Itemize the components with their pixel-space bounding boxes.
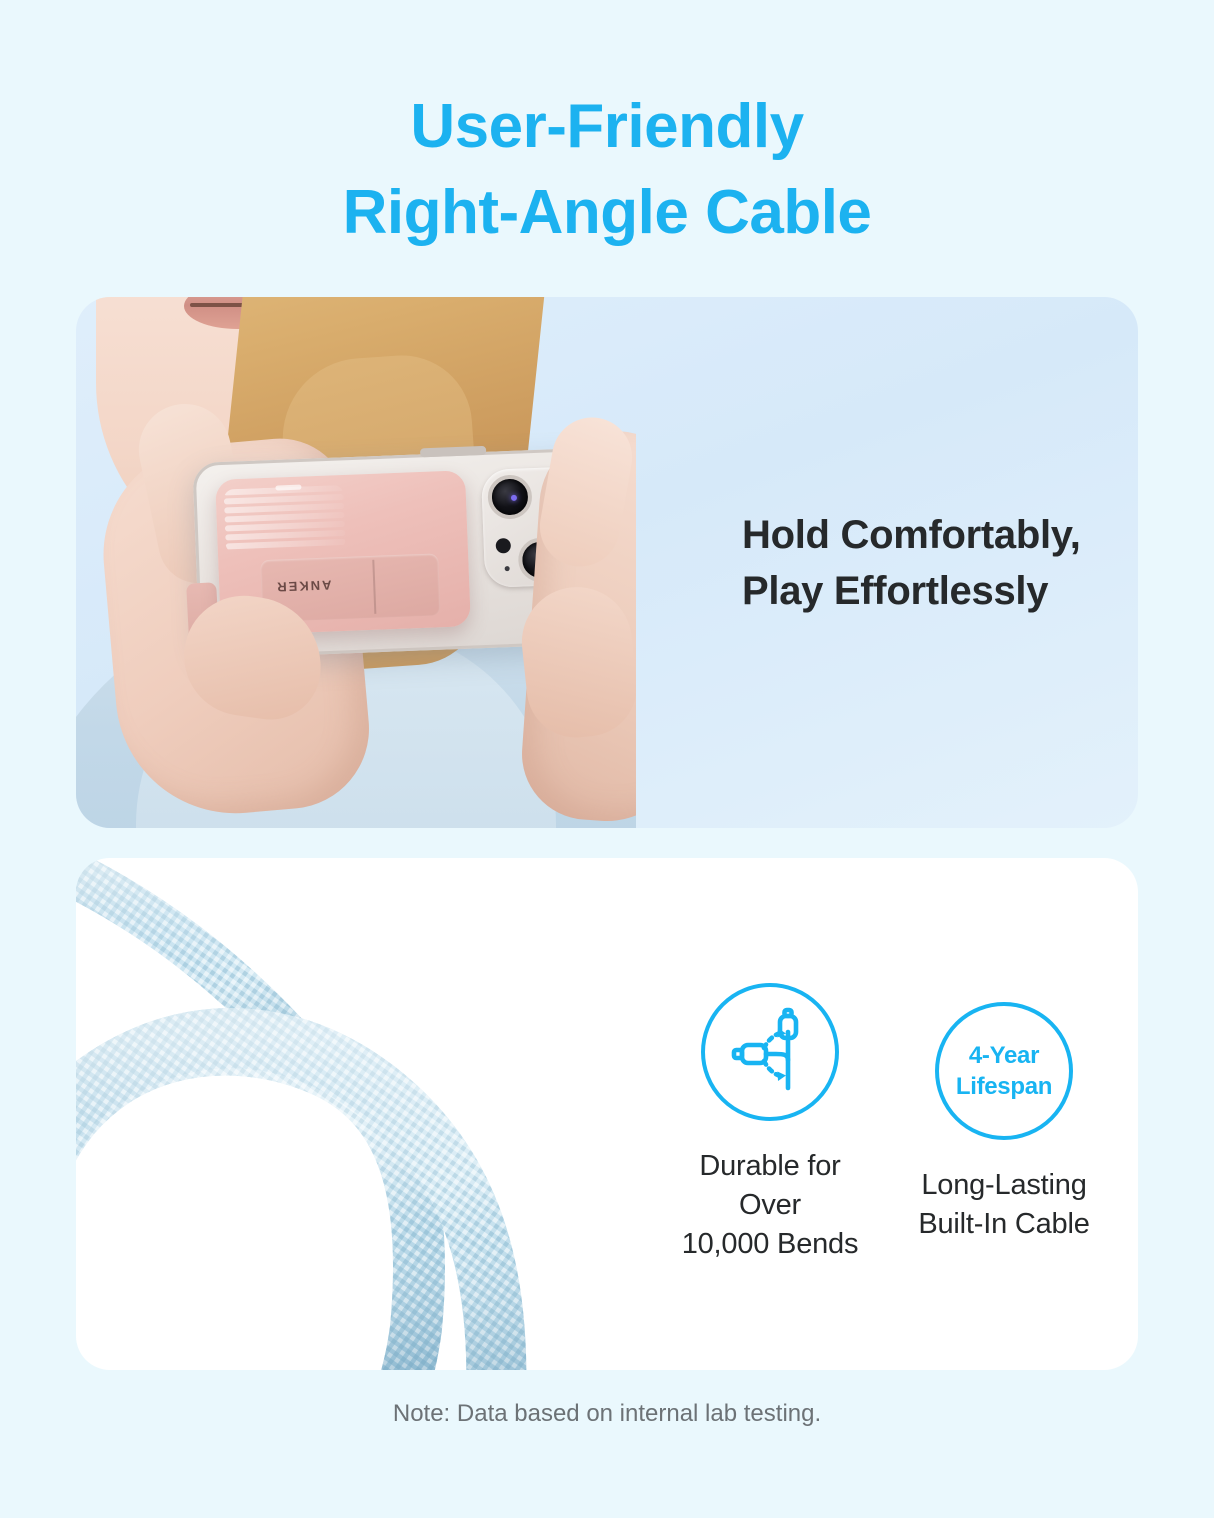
feature-list: Durable for Over 10,000 Bends 4-Year Lif… — [636, 858, 1138, 1370]
braided-cable-photo — [76, 858, 636, 1370]
page-title-line-2: Right-Angle Cable — [0, 170, 1214, 256]
lidar-icon — [496, 538, 512, 554]
anker-logo: ANKER — [275, 577, 332, 594]
lifespan-badge-icon: 4-Year Lifespan — [935, 1002, 1073, 1140]
hold-comfortably-line-1: Hold Comfortably, — [742, 507, 1138, 563]
lifestyle-photo: ANKER — [76, 297, 636, 828]
cable-illustration — [76, 858, 636, 1370]
kickstand-seam — [372, 560, 376, 614]
feature-caption: Durable for Over 10,000 Bends — [672, 1147, 868, 1264]
lifespan-badge-line-1: 4-Year — [956, 1040, 1052, 1071]
feature-lifespan: 4-Year Lifespan Long-Lasting Built-In Ca… — [906, 1002, 1102, 1244]
footnote: Note: Data based on internal lab testing… — [0, 1400, 1214, 1428]
feature-caption-line-2: Built-In Cable — [906, 1205, 1102, 1244]
lifespan-badge-line-2: Lifespan — [956, 1071, 1052, 1102]
feature-caption-line-2: 10,000 Bends — [672, 1225, 868, 1264]
product-feature-page: User-Friendly Right-Angle Cable — [0, 0, 1214, 1518]
hold-comfortably-panel: ANKER Hold Comfortably, Play Effortlessl… — [76, 297, 1138, 828]
cable-bend-icon — [701, 983, 839, 1121]
hold-comfortably-line-2: Play Effortlessly — [742, 563, 1138, 619]
lifespan-badge-text: 4-Year Lifespan — [956, 1040, 1052, 1102]
cable-bend-glyph — [722, 1004, 818, 1100]
durable-cable-panel: Durable for Over 10,000 Bends 4-Year Lif… — [76, 858, 1138, 1370]
feature-durable-bends: Durable for Over 10,000 Bends — [672, 983, 868, 1264]
sensor-icon — [505, 566, 510, 571]
page-title-line-1: User-Friendly — [0, 84, 1214, 170]
feature-caption-line-1: Long-Lasting — [906, 1166, 1102, 1205]
feature-caption-line-1: Durable for Over — [672, 1147, 868, 1225]
page-title: User-Friendly Right-Angle Cable — [0, 84, 1214, 256]
hold-comfortably-copy: Hold Comfortably, Play Effortlessly — [674, 297, 1138, 828]
camera-lens-icon — [487, 474, 533, 520]
feature-caption: Long-Lasting Built-In Cable — [906, 1166, 1102, 1244]
ridged-texture — [223, 485, 345, 554]
